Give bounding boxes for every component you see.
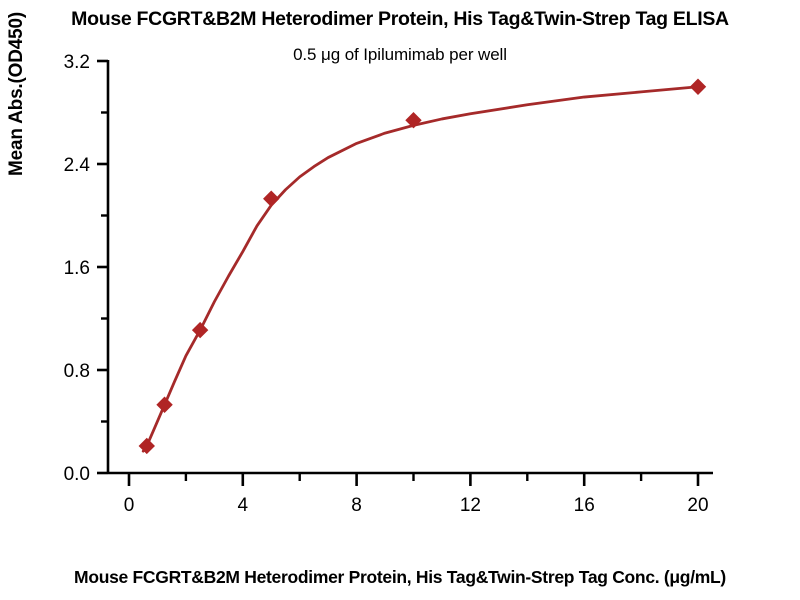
x-tick-label: 20 <box>687 495 708 516</box>
data-point-marker <box>157 397 172 412</box>
y-tick-label: 1.6 <box>64 258 90 279</box>
x-tick-label: 12 <box>460 495 481 516</box>
x-tick-label: 0 <box>124 495 135 516</box>
fit-curve <box>143 87 698 451</box>
data-point-marker <box>264 191 279 206</box>
x-tick-label: 4 <box>238 495 249 516</box>
data-point-marker <box>139 438 154 453</box>
x-axis-title: Mouse FCGRT&B2M Heterodimer Protein, His… <box>0 567 800 588</box>
x-tick-label: 8 <box>351 495 362 516</box>
y-tick-label: 0.0 <box>64 464 90 485</box>
data-point-marker <box>691 79 706 94</box>
y-tick-label: 0.8 <box>64 361 90 382</box>
y-tick-label: 2.4 <box>64 155 91 176</box>
data-point-marker <box>193 323 208 338</box>
x-tick-label: 16 <box>574 495 595 516</box>
plot-area: 0.00.81.62.43.2048121620 <box>0 0 800 600</box>
elisa-chart-figure: Mouse FCGRT&B2M Heterodimer Protein, His… <box>0 0 800 600</box>
y-tick-label: 3.2 <box>64 52 90 73</box>
